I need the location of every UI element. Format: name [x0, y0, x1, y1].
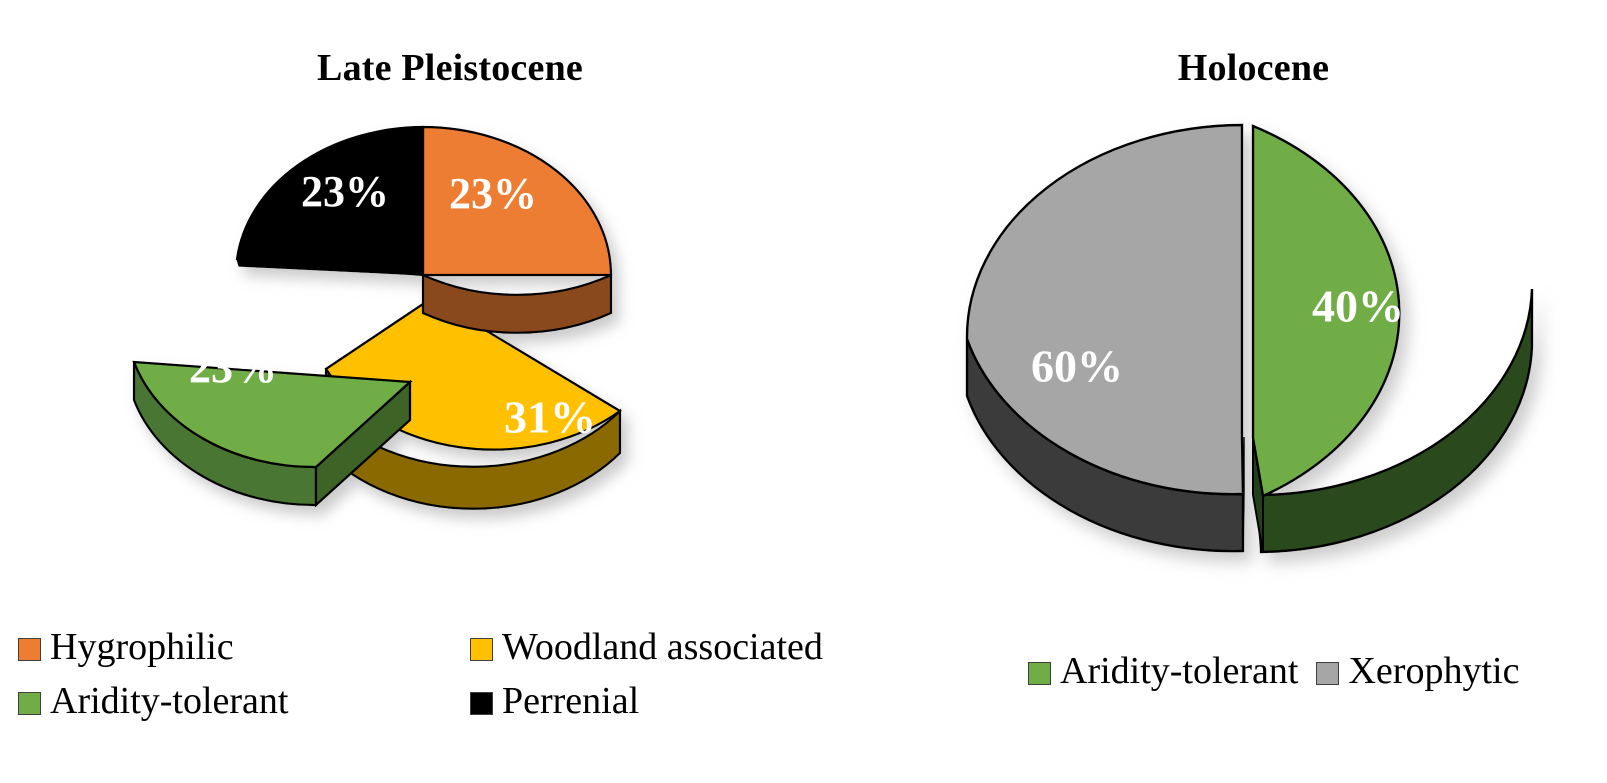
legend-late-pleistocene: Hygrophilic Woodland associated Aridity-… — [18, 620, 878, 728]
legend-label-hygrophilic: Hygrophilic — [50, 628, 234, 666]
legend-label-aridity-tolerant-holocene: Aridity-tolerant — [1060, 652, 1298, 690]
legend-swatch-perrenial — [470, 692, 493, 715]
pie-chart-late-pleistocene: 23% 31% 23% 23% — [120, 100, 760, 600]
slice-label-hygrophilic: 23% — [449, 169, 537, 218]
legend-swatch-aridity-tolerant — [18, 692, 41, 715]
page-title-holocene: Holocene — [900, 46, 1607, 90]
panel-holocene: Holocene — [900, 0, 1607, 783]
figure-root: Late Pleistocene — [0, 0, 1607, 783]
legend-label-woodland-associated: Woodland associated — [502, 628, 823, 666]
slice-label-woodland-associated: 31% — [504, 392, 596, 443]
legend-swatch-woodland-associated — [470, 638, 493, 661]
legend-item-perrenial[interactable]: Perrenial — [470, 682, 878, 720]
page-title-late-pleistocene: Late Pleistocene — [0, 46, 900, 90]
legend-item-xerophytic[interactable]: Xerophytic — [1316, 652, 1519, 690]
legend-swatch-xerophytic — [1316, 662, 1339, 685]
slice-label-xerophytic: 60% — [1031, 341, 1123, 392]
pie-slice-xerophytic — [967, 125, 1244, 551]
legend-holocene: Aridity-tolerant Xerophytic — [1028, 652, 1519, 690]
slice-label-aridity-tolerant-holocene: 40% — [1312, 281, 1404, 332]
legend-item-aridity-tolerant-holocene[interactable]: Aridity-tolerant — [1028, 652, 1298, 690]
panel-late-pleistocene: Late Pleistocene — [0, 0, 900, 783]
legend-item-aridity-tolerant[interactable]: Aridity-tolerant — [18, 682, 470, 720]
legend-label-perrenial: Perrenial — [502, 682, 639, 720]
legend-label-xerophytic: Xerophytic — [1348, 652, 1519, 690]
pie-slice-aridity-tolerant-holocene — [1253, 126, 1532, 553]
pie-slice-hygrophilic — [423, 127, 611, 333]
legend-item-hygrophilic[interactable]: Hygrophilic — [18, 628, 470, 666]
legend-swatch-hygrophilic — [18, 638, 41, 661]
slice-label-perrenial: 23% — [301, 167, 389, 216]
legend-swatch-aridity-tolerant-holocene — [1028, 662, 1051, 685]
legend-label-aridity-tolerant: Aridity-tolerant — [50, 682, 288, 720]
slice-label-aridity-tolerant: 23% — [189, 343, 277, 392]
pie-chart-holocene: 40% 60% — [920, 100, 1580, 620]
legend-item-woodland-associated[interactable]: Woodland associated — [470, 628, 878, 666]
